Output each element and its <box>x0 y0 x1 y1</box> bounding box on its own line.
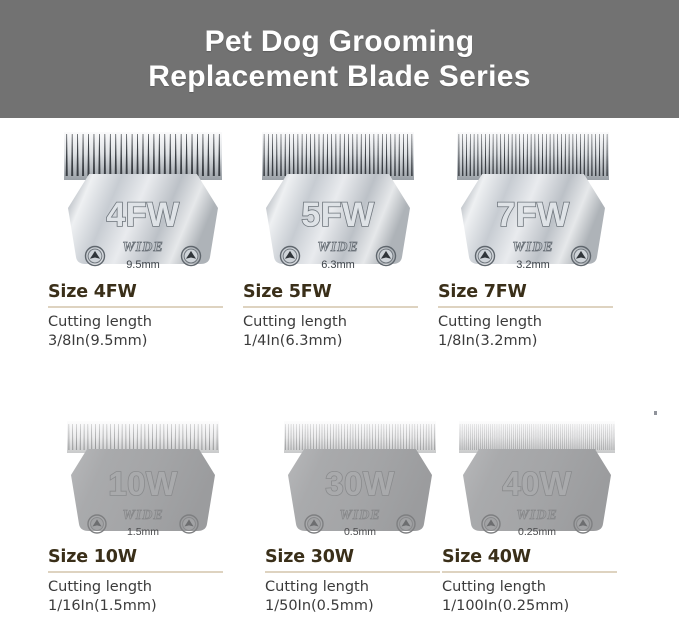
product-info: Size 7FW Cutting length 1/8In(3.2mm) <box>435 282 630 352</box>
svg-text:WIDE: WIDE <box>516 508 557 523</box>
product-size-title: Size 10W <box>48 547 240 567</box>
blade-illustration: 30W30WWIDE0.5mm <box>276 415 444 535</box>
svg-text:7FW: 7FW <box>496 196 570 234</box>
svg-text:0.5mm: 0.5mm <box>343 526 375 535</box>
product-size-title: Size 5FW <box>243 282 435 302</box>
svg-text:1.5mm: 1.5mm <box>126 526 158 535</box>
product-card-30w[interactable]: 30W30WWIDE0.5mm Size 30W Cutting length … <box>262 410 457 632</box>
svg-text:5FW: 5FW <box>301 196 375 234</box>
svg-text:40W: 40W <box>502 465 572 502</box>
cutting-length-label: Cutting length <box>243 313 435 333</box>
blade-image-40w: 40W40WWIDE0.25mm <box>439 410 634 535</box>
screw-icon-right <box>571 247 590 266</box>
svg-text:0.25mm: 0.25mm <box>518 526 556 535</box>
cutting-length-label: Cutting length <box>265 578 457 598</box>
product-size-title: Size 4FW <box>48 282 240 302</box>
screw-icon-right <box>574 515 592 533</box>
screw-icon-right <box>180 515 198 533</box>
title-rule <box>438 306 613 308</box>
screw-icon-left <box>475 247 494 266</box>
svg-text:WIDE: WIDE <box>317 240 358 255</box>
svg-text:10W: 10W <box>108 465 178 502</box>
blade-illustration: 4FW4FWWIDE9.5mm <box>54 128 232 268</box>
product-card-5fw[interactable]: 5FW5FWWIDE6.3mm Size 5FW Cutting length … <box>240 118 435 410</box>
blade-illustration: 10W10WWIDE1.5mm <box>59 415 227 535</box>
svg-text:4FW: 4FW <box>106 196 180 234</box>
image-artifact-speck <box>654 411 657 415</box>
cutting-length-value: 1/50In(0.5mm) <box>265 597 457 617</box>
blade-image-5fw: 5FW5FWWIDE6.3mm <box>240 118 435 268</box>
product-info: Size 4FW Cutting length 3/8In(9.5mm) <box>45 282 240 352</box>
title-rule <box>243 306 418 308</box>
svg-text:3.2mm: 3.2mm <box>516 259 550 268</box>
title-rule <box>442 571 617 573</box>
svg-text:6.3mm: 6.3mm <box>321 259 355 268</box>
blade-image-7fw: 7FW7FWWIDE3.2mm <box>435 118 630 268</box>
blade-image-10w: 10W10WWIDE1.5mm <box>45 410 240 535</box>
product-info: Size 5FW Cutting length 1/4In(6.3mm) <box>240 282 435 352</box>
title-rule <box>265 571 440 573</box>
product-size-title: Size 30W <box>265 547 457 567</box>
screw-icon-left <box>88 515 106 533</box>
product-card-10w[interactable]: 10W10WWIDE1.5mm Size 10W Cutting length … <box>45 410 240 632</box>
screw-icon-right <box>181 247 200 266</box>
svg-text:WIDE: WIDE <box>339 508 380 523</box>
product-row-bottom: 10W10WWIDE1.5mm Size 10W Cutting length … <box>0 410 679 632</box>
product-info: Size 30W Cutting length 1/50In(0.5mm) <box>262 547 457 617</box>
title-rule <box>48 306 223 308</box>
cutting-length-label: Cutting length <box>48 313 240 333</box>
cutting-length-value: 1/16In(1.5mm) <box>48 597 240 617</box>
product-size-title: Size 40W <box>442 547 634 567</box>
product-grid: 4FW4FWWIDE9.5mm Size 4FW Cutting length … <box>0 118 679 632</box>
screw-icon-left <box>280 247 299 266</box>
page-title: Pet Dog Grooming Replacement Blade Serie… <box>148 24 530 94</box>
blade-illustration: 7FW7FWWIDE3.2mm <box>447 128 619 268</box>
blade-illustration: 5FW5FWWIDE6.3mm <box>252 128 424 268</box>
svg-text:9.5mm: 9.5mm <box>126 259 160 268</box>
product-row-top: 4FW4FWWIDE9.5mm Size 4FW Cutting length … <box>0 118 679 410</box>
screw-icon-right <box>397 515 415 533</box>
product-size-title: Size 7FW <box>438 282 630 302</box>
product-card-40w[interactable]: 40W40WWIDE0.25mm Size 40W Cutting length… <box>439 410 634 632</box>
svg-text:WIDE: WIDE <box>512 240 553 255</box>
cutting-length-label: Cutting length <box>48 578 240 598</box>
blade-illustration: 40W40WWIDE0.25mm <box>451 415 623 535</box>
header-banner: Pet Dog Grooming Replacement Blade Serie… <box>0 0 679 118</box>
blade-image-30w: 30W30WWIDE0.5mm <box>262 410 457 535</box>
cutting-length-value: 3/8In(9.5mm) <box>48 332 240 352</box>
product-card-4fw[interactable]: 4FW4FWWIDE9.5mm Size 4FW Cutting length … <box>45 118 240 410</box>
blade-image-4fw: 4FW4FWWIDE9.5mm <box>45 118 240 268</box>
screw-icon-left <box>482 515 500 533</box>
screw-icon-left <box>85 247 104 266</box>
cutting-length-label: Cutting length <box>442 578 634 598</box>
title-rule <box>48 571 223 573</box>
cutting-length-label: Cutting length <box>438 313 630 333</box>
svg-text:WIDE: WIDE <box>122 240 163 255</box>
cutting-length-value: 1/8In(3.2mm) <box>438 332 630 352</box>
product-info: Size 10W Cutting length 1/16In(1.5mm) <box>45 547 240 617</box>
cutting-length-value: 1/4In(6.3mm) <box>243 332 435 352</box>
svg-text:WIDE: WIDE <box>122 508 163 523</box>
cutting-length-value: 1/100In(0.25mm) <box>442 597 634 617</box>
product-info: Size 40W Cutting length 1/100In(0.25mm) <box>439 547 634 617</box>
product-card-7fw[interactable]: 7FW7FWWIDE3.2mm Size 7FW Cutting length … <box>435 118 630 410</box>
svg-text:30W: 30W <box>325 465 395 502</box>
screw-icon-left <box>305 515 323 533</box>
screw-icon-right <box>376 247 395 266</box>
